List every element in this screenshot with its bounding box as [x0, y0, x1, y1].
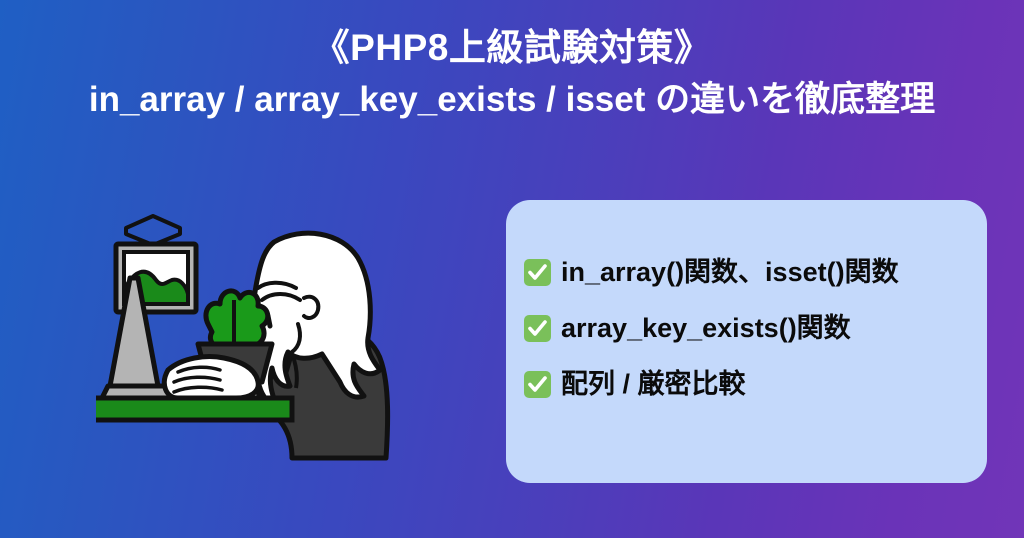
checklist-item-label: in_array()関数、isset()関数 — [561, 259, 899, 286]
checklist-item: array_key_exists()関数 — [524, 302, 987, 354]
page-title-line-2: in_array / array_key_exists / isset の違いを… — [0, 77, 1024, 124]
green-desk — [96, 398, 292, 420]
check-mark-button-icon — [524, 371, 551, 398]
woman-working-on-laptop-illustration — [96, 212, 426, 497]
woman-hand — [164, 357, 258, 399]
check-mark-button-icon — [524, 315, 551, 342]
checklist-item: 配列 / 厳密比較 — [524, 358, 987, 410]
checklist-item: in_array()関数、isset()関数 — [524, 246, 987, 298]
checklist-item-label: array_key_exists()関数 — [561, 315, 851, 342]
checklist-item-label: 配列 / 厳密比較 — [561, 371, 746, 398]
check-mark-button-icon — [524, 259, 551, 286]
page-title-line-1: 《PHP8上級試験対策》 — [0, 24, 1024, 73]
blog-eyecatch-banner: 《PHP8上級試験対策》 in_array / array_key_exists… — [0, 0, 1024, 538]
checklist-panel: in_array()関数、isset()関数 array_key_exists(… — [506, 200, 987, 483]
title-block: 《PHP8上級試験対策》 in_array / array_key_exists… — [0, 24, 1024, 124]
